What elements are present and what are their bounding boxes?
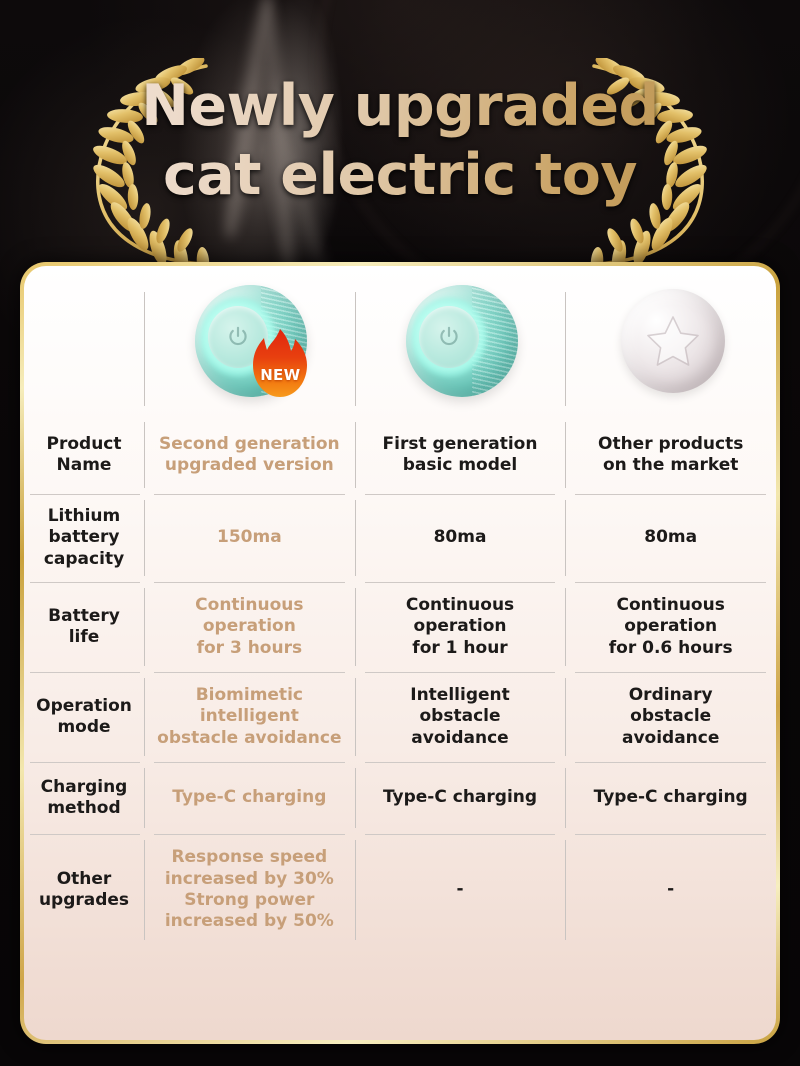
- power-button-icon: [436, 324, 462, 350]
- column-divider: [355, 768, 356, 828]
- cell-battery-capacity-other-products: 80ma: [565, 494, 776, 582]
- cell-product-name-second-generation: Second generationupgraded version: [144, 416, 355, 494]
- row-label-line: Name: [57, 455, 112, 475]
- column-divider: [144, 840, 145, 940]
- row-label-line: Lithium: [48, 506, 121, 526]
- cell-battery-capacity-first-generation: 80ma: [355, 494, 566, 582]
- column-divider: [355, 678, 356, 756]
- table-row: Charging method Type-C charging Type-C c…: [24, 762, 776, 834]
- table-row: Product Name Second generationupgraded v…: [24, 416, 776, 494]
- header: Newly upgraded cat electric toy: [0, 58, 800, 273]
- table-row: Operation mode Biomimeticintelligentobst…: [24, 672, 776, 762]
- row-label-line: Product: [47, 434, 122, 454]
- star-emboss-icon: [643, 310, 703, 370]
- cell-other-upgrades-first-generation: -: [355, 834, 566, 946]
- product-ball-first-generation: [400, 281, 520, 401]
- cell-charging-method-other-products: Type-C charging: [565, 762, 776, 834]
- cell-product-name-other-products: Other productson the market: [565, 416, 776, 494]
- cell-other-upgrades-other-products: -: [565, 834, 776, 946]
- row-label-line: life: [69, 627, 100, 647]
- page-title: Newly upgraded cat electric toy: [0, 72, 800, 210]
- product-ball-second-generation: NEW: [189, 281, 309, 401]
- row-label-battery-life: Battery life: [24, 582, 144, 672]
- cell-battery-life-other-products: Continuousoperationfor 0.6 hours: [565, 582, 776, 672]
- product-image-cell-other-products: [565, 266, 776, 416]
- cell-operation-mode-other-products: Ordinaryobstacleavoidance: [565, 672, 776, 762]
- column-divider: [144, 768, 145, 828]
- column-divider: [144, 588, 145, 666]
- cell-battery-life-first-generation: Continuousoperationfor 1 hour: [355, 582, 566, 672]
- cell-value: Type-C charging: [383, 787, 537, 808]
- row-label-line: Operation: [36, 696, 132, 716]
- cell-operation-mode-first-generation: Intelligentobstacleavoidance: [355, 672, 566, 762]
- cell-value: 80ma: [644, 527, 697, 548]
- ball-face: [419, 306, 479, 368]
- row-label-line: Charging: [41, 777, 128, 797]
- row-label-line: mode: [57, 717, 110, 737]
- page-title-line-2: cat electric toy: [0, 141, 800, 210]
- row-label-operation-mode: Operation mode: [24, 672, 144, 762]
- row-label-line: battery: [49, 527, 120, 547]
- cell-product-name-first-generation: First generationbasic model: [355, 416, 566, 494]
- cell-value: Type-C charging: [594, 787, 748, 808]
- column-divider: [355, 840, 356, 940]
- row-label-line: capacity: [44, 549, 124, 569]
- comparison-card: NEW: [20, 262, 780, 1044]
- cell-other-upgrades-second-generation: Response speedincreased by 30%Strong pow…: [144, 834, 355, 946]
- new-badge: NEW: [249, 327, 311, 399]
- column-divider: [355, 422, 356, 488]
- cell-value: -: [456, 879, 463, 900]
- column-divider: [565, 840, 566, 940]
- table-row: Other upgrades Response speedincreased b…: [24, 834, 776, 946]
- row-label-charging-method: Charging method: [24, 762, 144, 834]
- table-row: Lithium battery capacity 150ma 80ma 80ma: [24, 494, 776, 582]
- comparison-card-inner: NEW: [24, 266, 776, 1040]
- page-title-line-1: Newly upgraded: [0, 72, 800, 141]
- column-divider: [355, 500, 356, 576]
- product-image-cell-first-generation: [355, 266, 566, 416]
- cell-value: 80ma: [434, 527, 487, 548]
- cell-charging-method-first-generation: Type-C charging: [355, 762, 566, 834]
- column-divider: [355, 588, 356, 666]
- row-label-other-upgrades: Other upgrades: [24, 834, 144, 946]
- row-label-line: upgrades: [39, 890, 129, 910]
- column-divider: [565, 500, 566, 576]
- column-divider: [565, 678, 566, 756]
- cell-value: Type-C charging: [172, 787, 326, 808]
- row-label-product-name: Product Name: [24, 416, 144, 494]
- cell-value: -: [667, 879, 674, 900]
- product-image-cell-second-generation: NEW: [144, 266, 355, 416]
- white-star-ball-icon: [621, 289, 725, 393]
- product-image-row: NEW: [24, 266, 776, 416]
- column-divider: [565, 422, 566, 488]
- cell-operation-mode-second-generation: Biomimeticintelligentobstacle avoidance: [144, 672, 355, 762]
- cell-battery-life-second-generation: Continuousoperationfor 3 hours: [144, 582, 355, 672]
- column-divider: [565, 588, 566, 666]
- column-divider: [144, 422, 145, 488]
- column-divider: [144, 678, 145, 756]
- image-row-label-spacer: [24, 266, 144, 416]
- table-row: Battery life Continuousoperationfor 3 ho…: [24, 582, 776, 672]
- cell-charging-method-second-generation: Type-C charging: [144, 762, 355, 834]
- row-label-battery-capacity: Lithium battery capacity: [24, 494, 144, 582]
- column-divider: [565, 768, 566, 828]
- power-button-icon: [225, 324, 251, 350]
- flame-icon: [249, 327, 311, 399]
- product-ball-other-products: [611, 281, 731, 401]
- row-label-line: Other: [57, 869, 112, 889]
- row-label-line: Battery: [48, 606, 120, 626]
- new-badge-label: NEW: [249, 366, 311, 384]
- row-label-line: method: [47, 798, 120, 818]
- comparison-table: Product Name Second generationupgraded v…: [24, 416, 776, 1040]
- cell-value: 150ma: [217, 527, 282, 548]
- column-divider: [144, 500, 145, 576]
- cell-battery-capacity-second-generation: 150ma: [144, 494, 355, 582]
